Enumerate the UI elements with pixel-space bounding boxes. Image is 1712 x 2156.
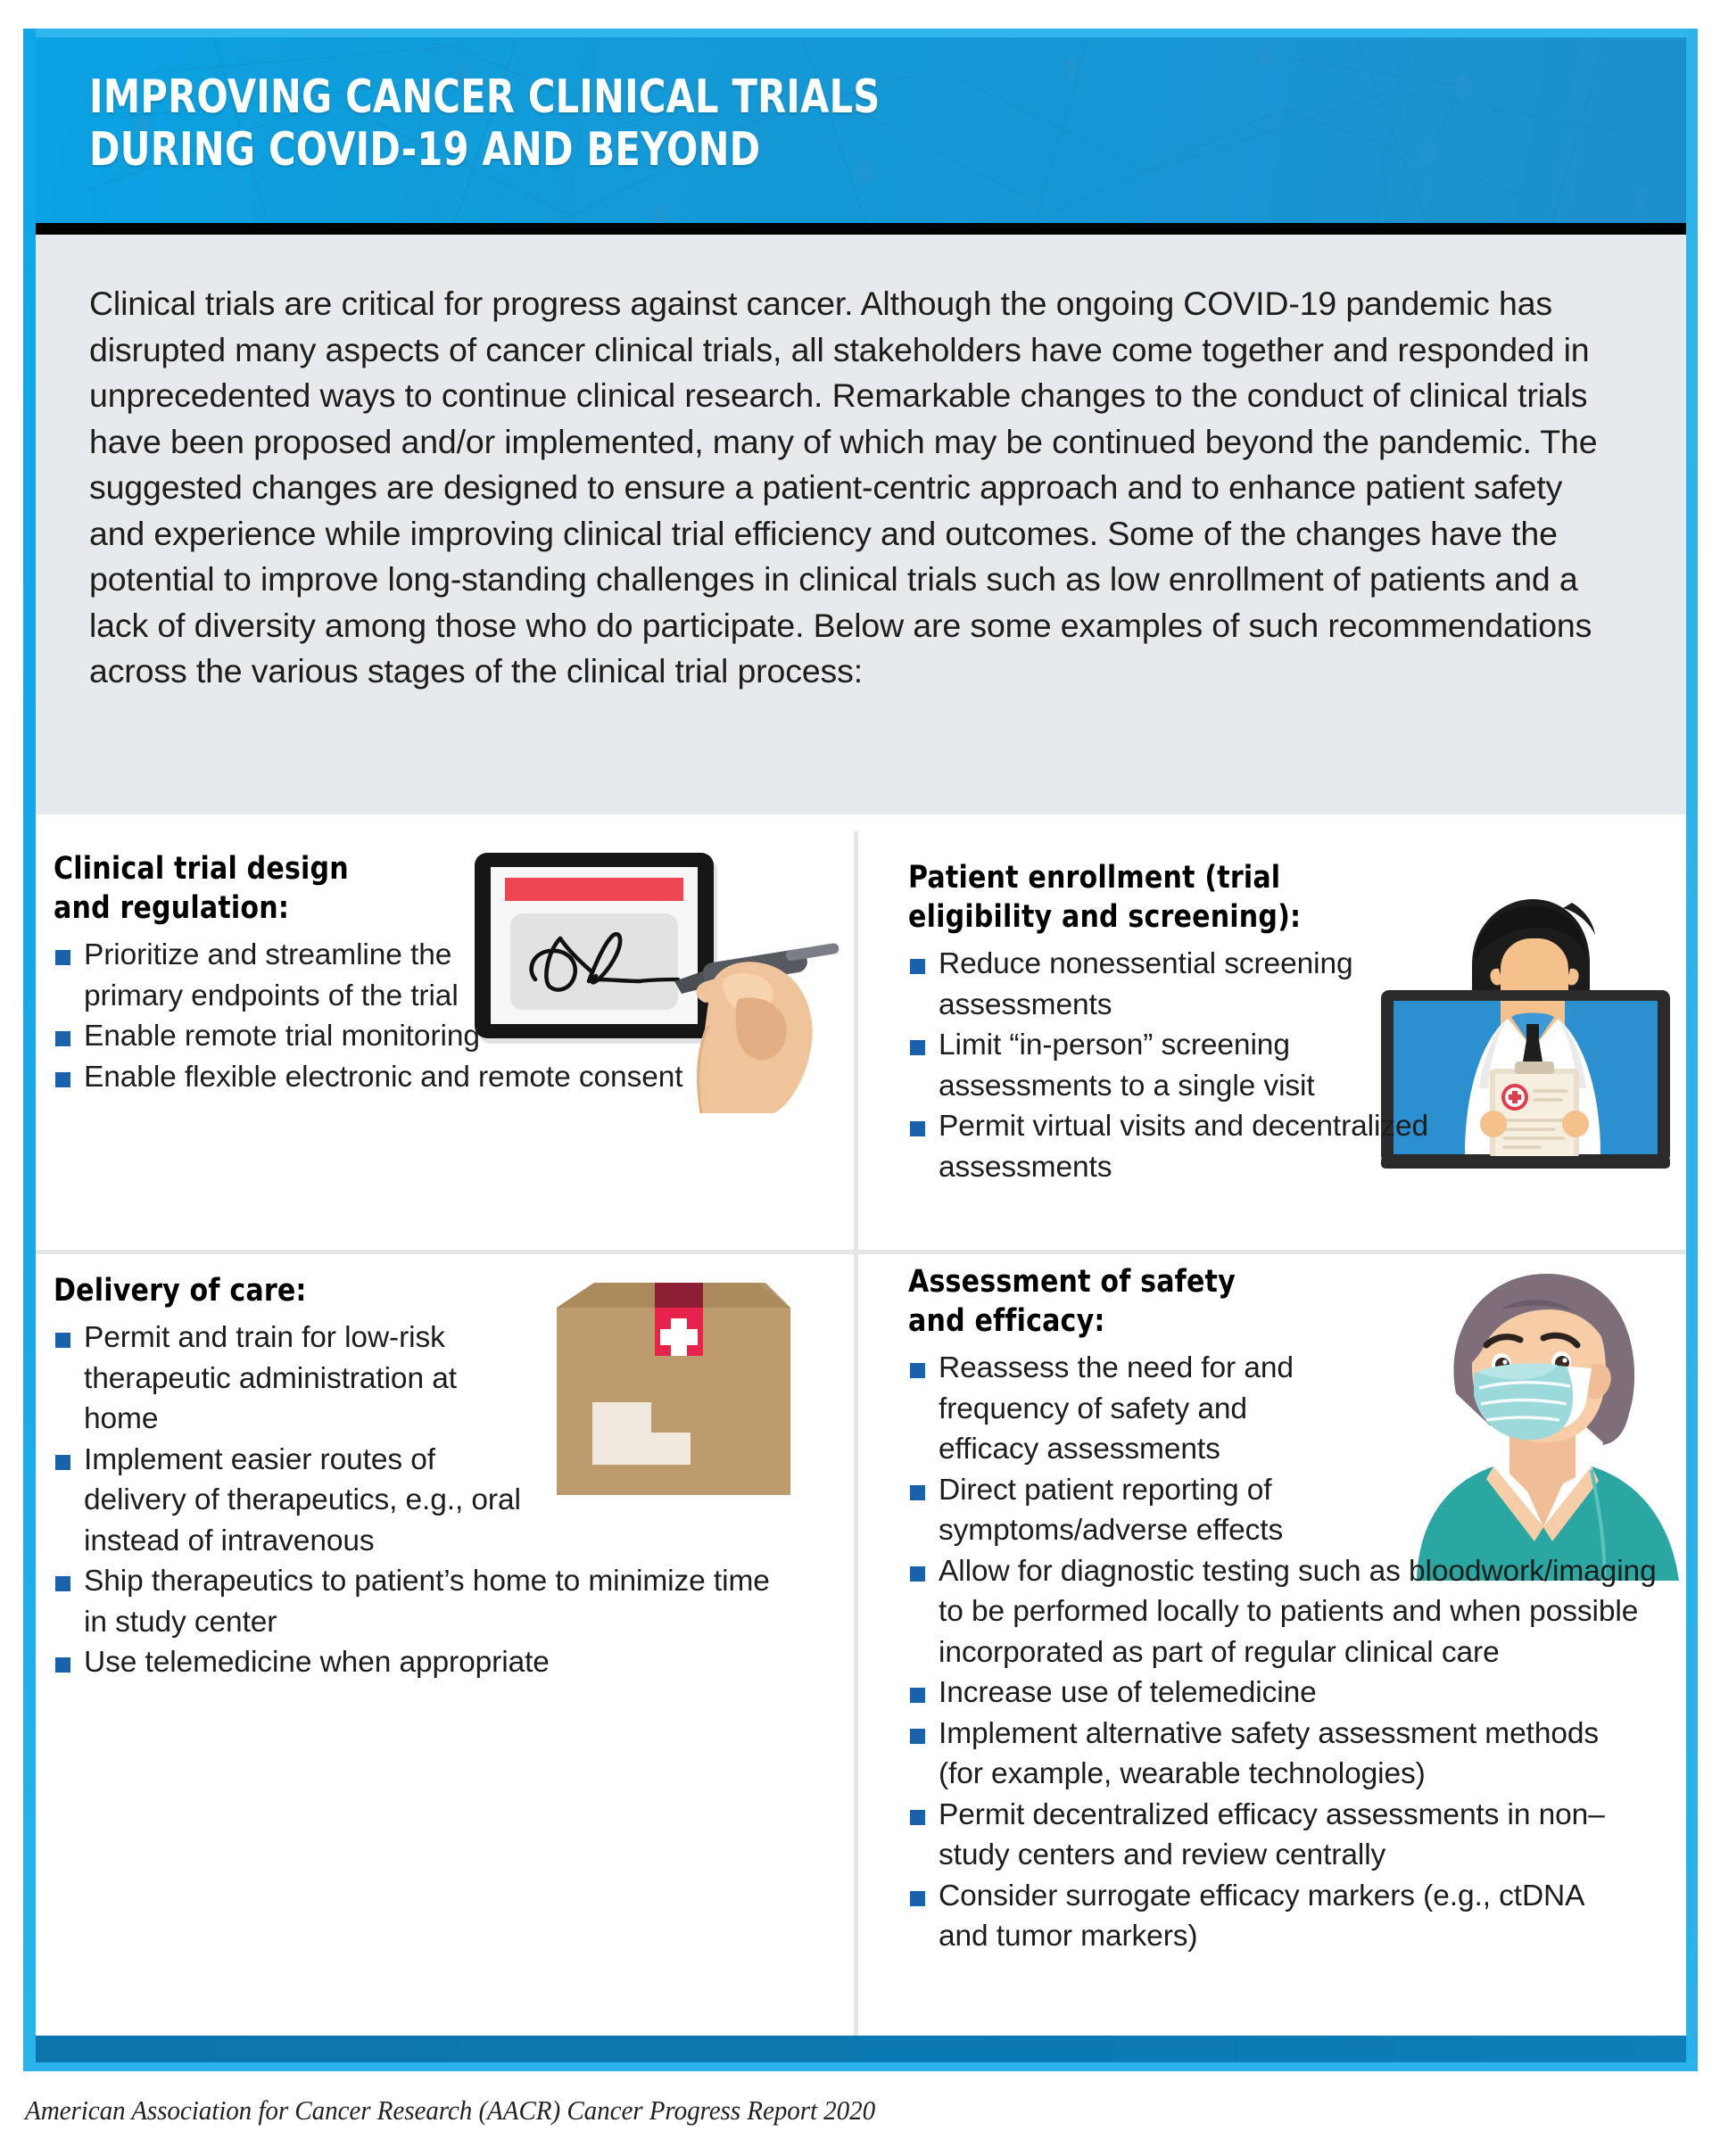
section-assessment-of-safety-efficacy: Assessment of safety and efficacy: Reass… (908, 1262, 1677, 1957)
list-item-text: Limit “in-person” screening assessments … (939, 1028, 1315, 1103)
list-item: Ship therapeutics to patient’s home to m… (54, 1561, 794, 1642)
list-item-text: Reduce nonessential screening assessment… (939, 947, 1353, 1021)
section-title: Assessment of safety and efficacy: (908, 1262, 1569, 1341)
list-item-text: Reassess the need for and frequency of s… (939, 1351, 1294, 1466)
bullet-square-icon (55, 1657, 70, 1673)
recommendation-list: Reduce nonessential screening assessment… (908, 944, 1675, 1187)
list-item: Permit and train for low-risk therapeuti… (54, 1318, 482, 1440)
frame-left-border (23, 29, 36, 2071)
bullet-square-icon (910, 1040, 925, 1055)
bullet-square-icon (55, 1072, 70, 1087)
list-item: Limit “in-person” screening assessments … (908, 1025, 1443, 1106)
list-item-text: Ship therapeutics to patient’s home to m… (84, 1565, 770, 1639)
list-item: Direct patient reporting of symptoms/adv… (908, 1470, 1327, 1551)
section-delivery-of-care: Delivery of care: Permit and train for l… (54, 1271, 839, 1683)
bullet-square-icon (55, 1333, 70, 1348)
intro-block: Clinical trials are critical for progres… (36, 235, 1686, 814)
section-clinical-trial-design: Clinical trial design and regulation: Pr… (54, 849, 839, 1097)
intro-paragraph: Clinical trials are critical for progres… (89, 281, 1617, 695)
list-item: Reduce nonessential screening assessment… (908, 944, 1372, 1025)
list-item-text: Direct patient reporting of symptoms/adv… (939, 1474, 1283, 1548)
list-item-text: Implement alternative safety assessment … (939, 1717, 1599, 1791)
bullet-square-icon (910, 1485, 925, 1500)
recommendation-list: Prioritize and streamline the primary en… (54, 935, 839, 1097)
infographic-page: IMPROVING CANCER CLINICAL TRIALS DURING … (0, 0, 1712, 2156)
bullet-square-icon (910, 1688, 925, 1703)
bullet-square-icon (910, 1729, 925, 1744)
footer-accent-bar (36, 2036, 1686, 2062)
list-item: Allow for diagnostic testing such as blo… (908, 1551, 1327, 1673)
source-citation: American Association for Cancer Research… (25, 2094, 875, 2127)
list-item-text: Prioritize and streamline the primary en… (84, 938, 459, 1012)
bullet-square-icon (55, 1031, 70, 1046)
header-divider-rule (36, 223, 1686, 235)
list-item-text: Use telemedicine when appropriate (84, 1646, 550, 1679)
list-item: Consider surrogate efficacy markers (e.g… (908, 1876, 1595, 1957)
section-patient-enrollment: Patient enrollment (trial eligibility an… (908, 858, 1675, 1187)
recommendation-list: Permit and train for low-risk therapeuti… (54, 1318, 839, 1683)
list-item: Permit decentralized efficacy assessment… (908, 1795, 1613, 1876)
list-item-text: Permit virtual visits and decentralized … (939, 1110, 1428, 1184)
list-item-text: Enable remote trial monitoring (84, 1020, 480, 1053)
bullet-square-icon (910, 1891, 925, 1906)
grid-horizontal-divider (36, 1250, 1686, 1254)
header-banner: IMPROVING CANCER CLINICAL TRIALS DURING … (36, 37, 1686, 223)
list-item: Implement alternative safety assessment … (908, 1714, 1649, 1795)
section-title: Clinical trial design and regulation: (54, 849, 729, 928)
section-title: Delivery of care: (54, 1271, 729, 1310)
bullet-square-icon (910, 1363, 925, 1378)
list-item-text: Consider surrogate efficacy markers (e.g… (939, 1879, 1584, 1954)
bullet-square-icon (55, 1576, 70, 1591)
list-item-text: Allow for diagnostic testing such as blo… (939, 1551, 1679, 1673)
list-item: Use telemedicine when appropriate (54, 1642, 794, 1683)
page-title: IMPROVING CANCER CLINICAL TRIALS DURING … (89, 71, 881, 178)
grid-vertical-divider (854, 831, 858, 2044)
list-item: Reassess the need for and frequency of s… (908, 1348, 1327, 1470)
list-item: Permit virtual visits and decentralized … (908, 1106, 1443, 1187)
bullet-square-icon (55, 1455, 70, 1470)
list-item-text: Increase use of telemedicine (939, 1676, 1317, 1709)
frame-top-border (23, 29, 1698, 37)
list-item: Enable flexible electronic and remote co… (54, 1057, 839, 1098)
list-item: Increase use of telemedicine (908, 1673, 1649, 1714)
bullet-square-icon (910, 959, 925, 974)
list-item-text: Permit decentralized efficacy assessment… (939, 1798, 1605, 1872)
recommendation-list: Reassess the need for and frequency of s… (908, 1348, 1677, 1957)
list-item: Implement easier routes of delivery of t… (54, 1440, 526, 1562)
list-item: Enable remote trial monitoring (54, 1016, 839, 1057)
list-item-text: Enable flexible electronic and remote co… (84, 1061, 683, 1094)
bullet-square-icon (910, 1566, 925, 1582)
bullet-square-icon (910, 1810, 925, 1825)
list-item-text: Implement easier routes of delivery of t… (84, 1443, 521, 1557)
bullet-square-icon (910, 1121, 925, 1136)
list-item: Prioritize and streamline the primary en… (54, 935, 517, 1016)
list-item-text: Permit and train for low-risk therapeuti… (84, 1321, 457, 1435)
bullet-square-icon (55, 950, 70, 965)
frame-right-border (1686, 29, 1698, 2071)
section-title: Patient enrollment (trial eligibility an… (908, 858, 1674, 937)
